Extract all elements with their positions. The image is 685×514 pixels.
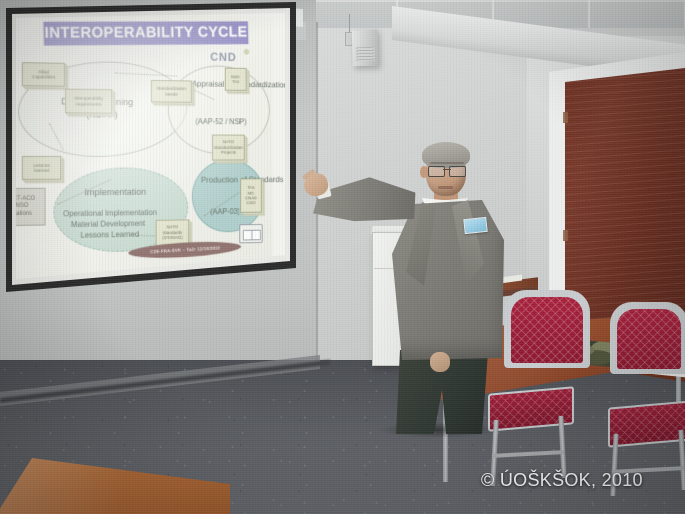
glasses-icon	[428, 166, 466, 175]
card-lessons-learned-text: Lessonslearned	[33, 162, 50, 173]
presenter-jacket	[386, 200, 510, 360]
presentation-slide: INTEROPERABILITY CYCLE CND Defence Plann…	[14, 10, 272, 286]
presenter-mouth	[438, 186, 453, 189]
projection-screen: INTEROPERABILITY CYCLE CND Defence Plann…	[4, 2, 300, 294]
card-allied-capabilities: AlliedCapabilities	[22, 62, 65, 87]
card-allied-capabilities-text: AlliedCapabilities	[32, 69, 55, 80]
card-lessons-learned: Lessonslearned	[22, 156, 61, 180]
card-interoperability-requirements: Interoperabilityrequirements	[65, 89, 112, 114]
label-implementation: Implementation	[84, 187, 146, 199]
label-impl-line-2: Material Development	[71, 219, 145, 230]
card-standardization-needs-text: StandardizationNeeds	[157, 86, 187, 97]
presenter	[318, 134, 508, 434]
door-hinge-lower	[563, 230, 568, 241]
card-interoperability-requirements-text: Interoperabilityrequirements	[74, 96, 103, 107]
presenter-hair	[422, 142, 470, 168]
slide-title: INTEROPERABILITY CYCLE	[43, 21, 248, 45]
label-appraisal-sub: (AAP-52 / NSP)	[196, 117, 247, 127]
cnd-emblem-dot	[244, 49, 249, 55]
presenter-name-badge	[463, 217, 487, 234]
card-tas-mc-cnad-cso: TAsMCCNADCSO	[240, 178, 262, 212]
card-nso-tas-text: NSOTAs	[231, 74, 240, 84]
book-logo-icon	[239, 224, 262, 243]
cnd-mark: CND	[210, 50, 236, 64]
card-nato-standardization-projects-text: NATOStandardizationProjects	[214, 140, 243, 156]
card-standardization-needs: StandardizationNeeds	[151, 80, 192, 103]
label-impl-line-1: Operational Implementation	[63, 208, 157, 219]
chair-backrest-pad-left	[511, 297, 583, 363]
presenter-brow	[430, 162, 464, 164]
card-nato-standards-text: NATOStandards(STANAG)	[162, 225, 182, 241]
presenter-right-hand	[430, 352, 450, 372]
card-nso-tas: NSOTAs	[225, 68, 247, 91]
speaker-cable	[349, 14, 350, 34]
glasses-bridge	[443, 169, 451, 170]
speaker-grille	[356, 47, 375, 62]
screen-surface: INTEROPERABILITY CYCLE CND Defence Plann…	[4, 2, 300, 294]
chair-seat-right	[608, 400, 685, 447]
photograph: INTEROPERABILITY CYCLE CND Defence Plann…	[0, 0, 685, 514]
chair-backrest-pad-right	[617, 309, 681, 369]
copyright-watermark: © ÚOŠKŠOK, 2010	[481, 470, 643, 491]
card-nato-standardization-projects: NATOStandardizationProjects	[212, 135, 245, 161]
door-hinge-upper	[563, 112, 568, 123]
card-tas-mc-cnad-cso-text: TAsMCCNADCSO	[245, 185, 257, 206]
presenter-ear	[420, 166, 428, 178]
